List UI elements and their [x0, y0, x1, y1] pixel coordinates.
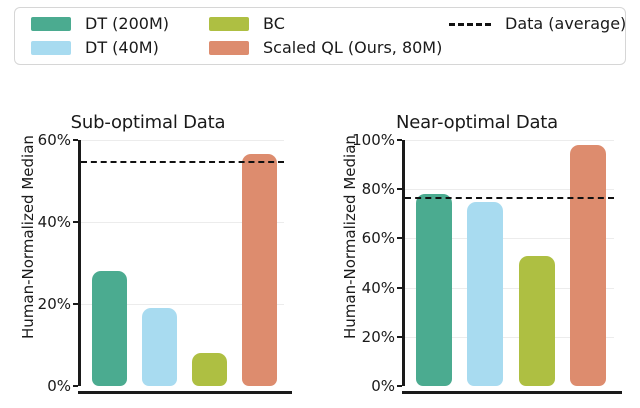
legend-label-dt-200m: DT (200M) — [85, 16, 169, 32]
legend-entry-bc: BC — [209, 16, 285, 32]
x-axis-line-left — [78, 391, 292, 394]
legend-swatch-dt-200m — [31, 17, 71, 31]
legend-label-dt-40m: DT (40M) — [85, 40, 159, 56]
y-tick-mark — [397, 139, 402, 141]
legend-entry-data-average: Data (average) — [449, 16, 626, 32]
legend-row-bottom: DT (40M) Scaled QL (Ours, 80M) — [31, 37, 627, 59]
y-tick-mark — [397, 287, 402, 289]
data-average-reference-line — [81, 161, 284, 163]
y-tick-label: 80% — [362, 180, 395, 198]
bar — [142, 308, 177, 386]
y-tick-label: 0% — [47, 377, 71, 395]
y-tick-mark — [397, 336, 402, 338]
y-tick-label: 60% — [38, 131, 71, 149]
y-tick-mark — [73, 303, 78, 305]
bar — [242, 154, 277, 386]
bar — [519, 256, 555, 386]
legend-row-top: DT (200M) BC Data (average) — [31, 13, 627, 35]
legend-entry-dt-200m: DT (200M) — [31, 16, 169, 32]
y-tick-mark — [397, 188, 402, 190]
bar — [192, 353, 227, 386]
legend-entry-scaled-ql: Scaled QL (Ours, 80M) — [209, 40, 442, 56]
legend-swatch-dt-40m — [31, 41, 71, 55]
chart-panel-sub-optimal: Sub-optimal Data Human-Normalized Median… — [4, 112, 316, 404]
y-axis-line-left — [78, 140, 81, 386]
legend-label-bc: BC — [263, 16, 285, 32]
data-average-reference-line — [405, 197, 614, 199]
gridline — [405, 140, 614, 141]
legend-dashed-line-icon — [449, 23, 491, 26]
y-tick-label: 20% — [362, 328, 395, 346]
bar — [92, 271, 127, 386]
y-tick-label: 20% — [38, 295, 71, 313]
y-tick-label: 0% — [371, 377, 395, 395]
bar — [570, 145, 606, 386]
y-axis-label-left: Human-Normalized Median — [19, 139, 37, 339]
legend-entry-dt-40m: DT (40M) — [31, 40, 159, 56]
gridline — [81, 140, 284, 141]
y-axis-line-right — [402, 140, 405, 386]
y-tick-mark — [397, 237, 402, 239]
y-tick-mark — [397, 385, 402, 387]
bar — [467, 202, 503, 387]
legend-swatch-bc — [209, 17, 249, 31]
y-tick-label: 60% — [362, 229, 395, 247]
legend-swatch-scaled-ql — [209, 41, 249, 55]
legend-label-data-average: Data (average) — [505, 16, 626, 32]
y-tick-mark — [73, 221, 78, 223]
y-axis-label-right: Human-Normalized Median — [341, 139, 359, 339]
y-tick-mark — [73, 139, 78, 141]
plot-area-right: 0%20%40%60%80%100% — [402, 140, 614, 386]
y-tick-label: 100% — [352, 131, 395, 149]
legend-label-scaled-ql: Scaled QL (Ours, 80M) — [263, 40, 442, 56]
y-tick-label: 40% — [38, 213, 71, 231]
y-tick-mark — [73, 385, 78, 387]
y-tick-label: 40% — [362, 279, 395, 297]
plot-area-left: 0%20%40%60% — [78, 140, 284, 386]
chart-panel-near-optimal: Near-optimal Data Human-Normalized Media… — [322, 112, 636, 404]
bar — [416, 194, 452, 386]
x-axis-line-right — [402, 391, 622, 394]
chart-legend: DT (200M) BC Data (average) DT (40M) Sca… — [14, 7, 626, 65]
chart-title-right: Near-optimal Data — [352, 112, 602, 133]
chart-title-left: Sub-optimal Data — [28, 112, 268, 133]
